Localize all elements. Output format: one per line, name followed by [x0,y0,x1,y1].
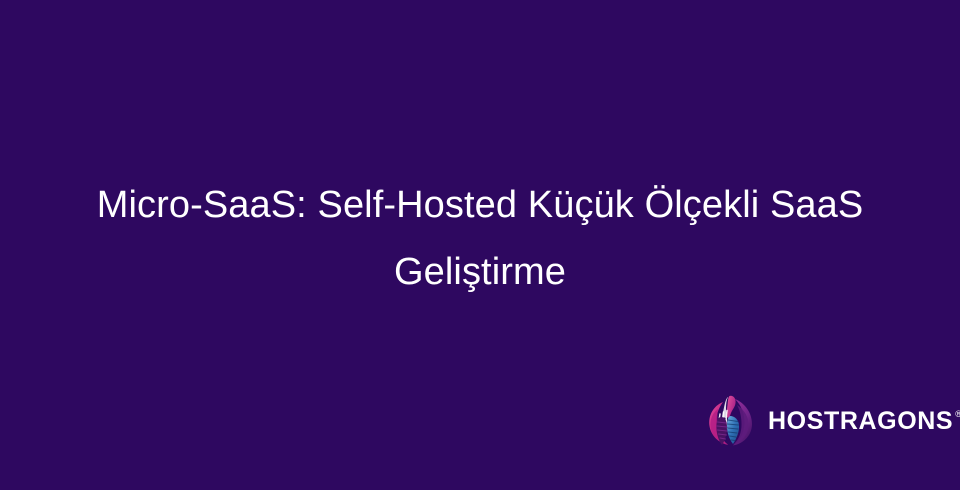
banner: Micro-SaaS: Self-Hosted Küçük Ölçekli Sa… [0,0,960,490]
hostragons-logo[interactable]: HOSTRAGONS ® [706,393,918,449]
logo-text: HOSTRAGONS [768,409,953,434]
registered-trademark-symbol: ® [955,410,960,419]
page-title: Micro-SaaS: Self-Hosted Küçük Ölçekli Sa… [70,172,890,306]
logo-wordmark: HOSTRAGONS ® [768,409,960,434]
hostragons-dragon-icon [706,394,756,448]
